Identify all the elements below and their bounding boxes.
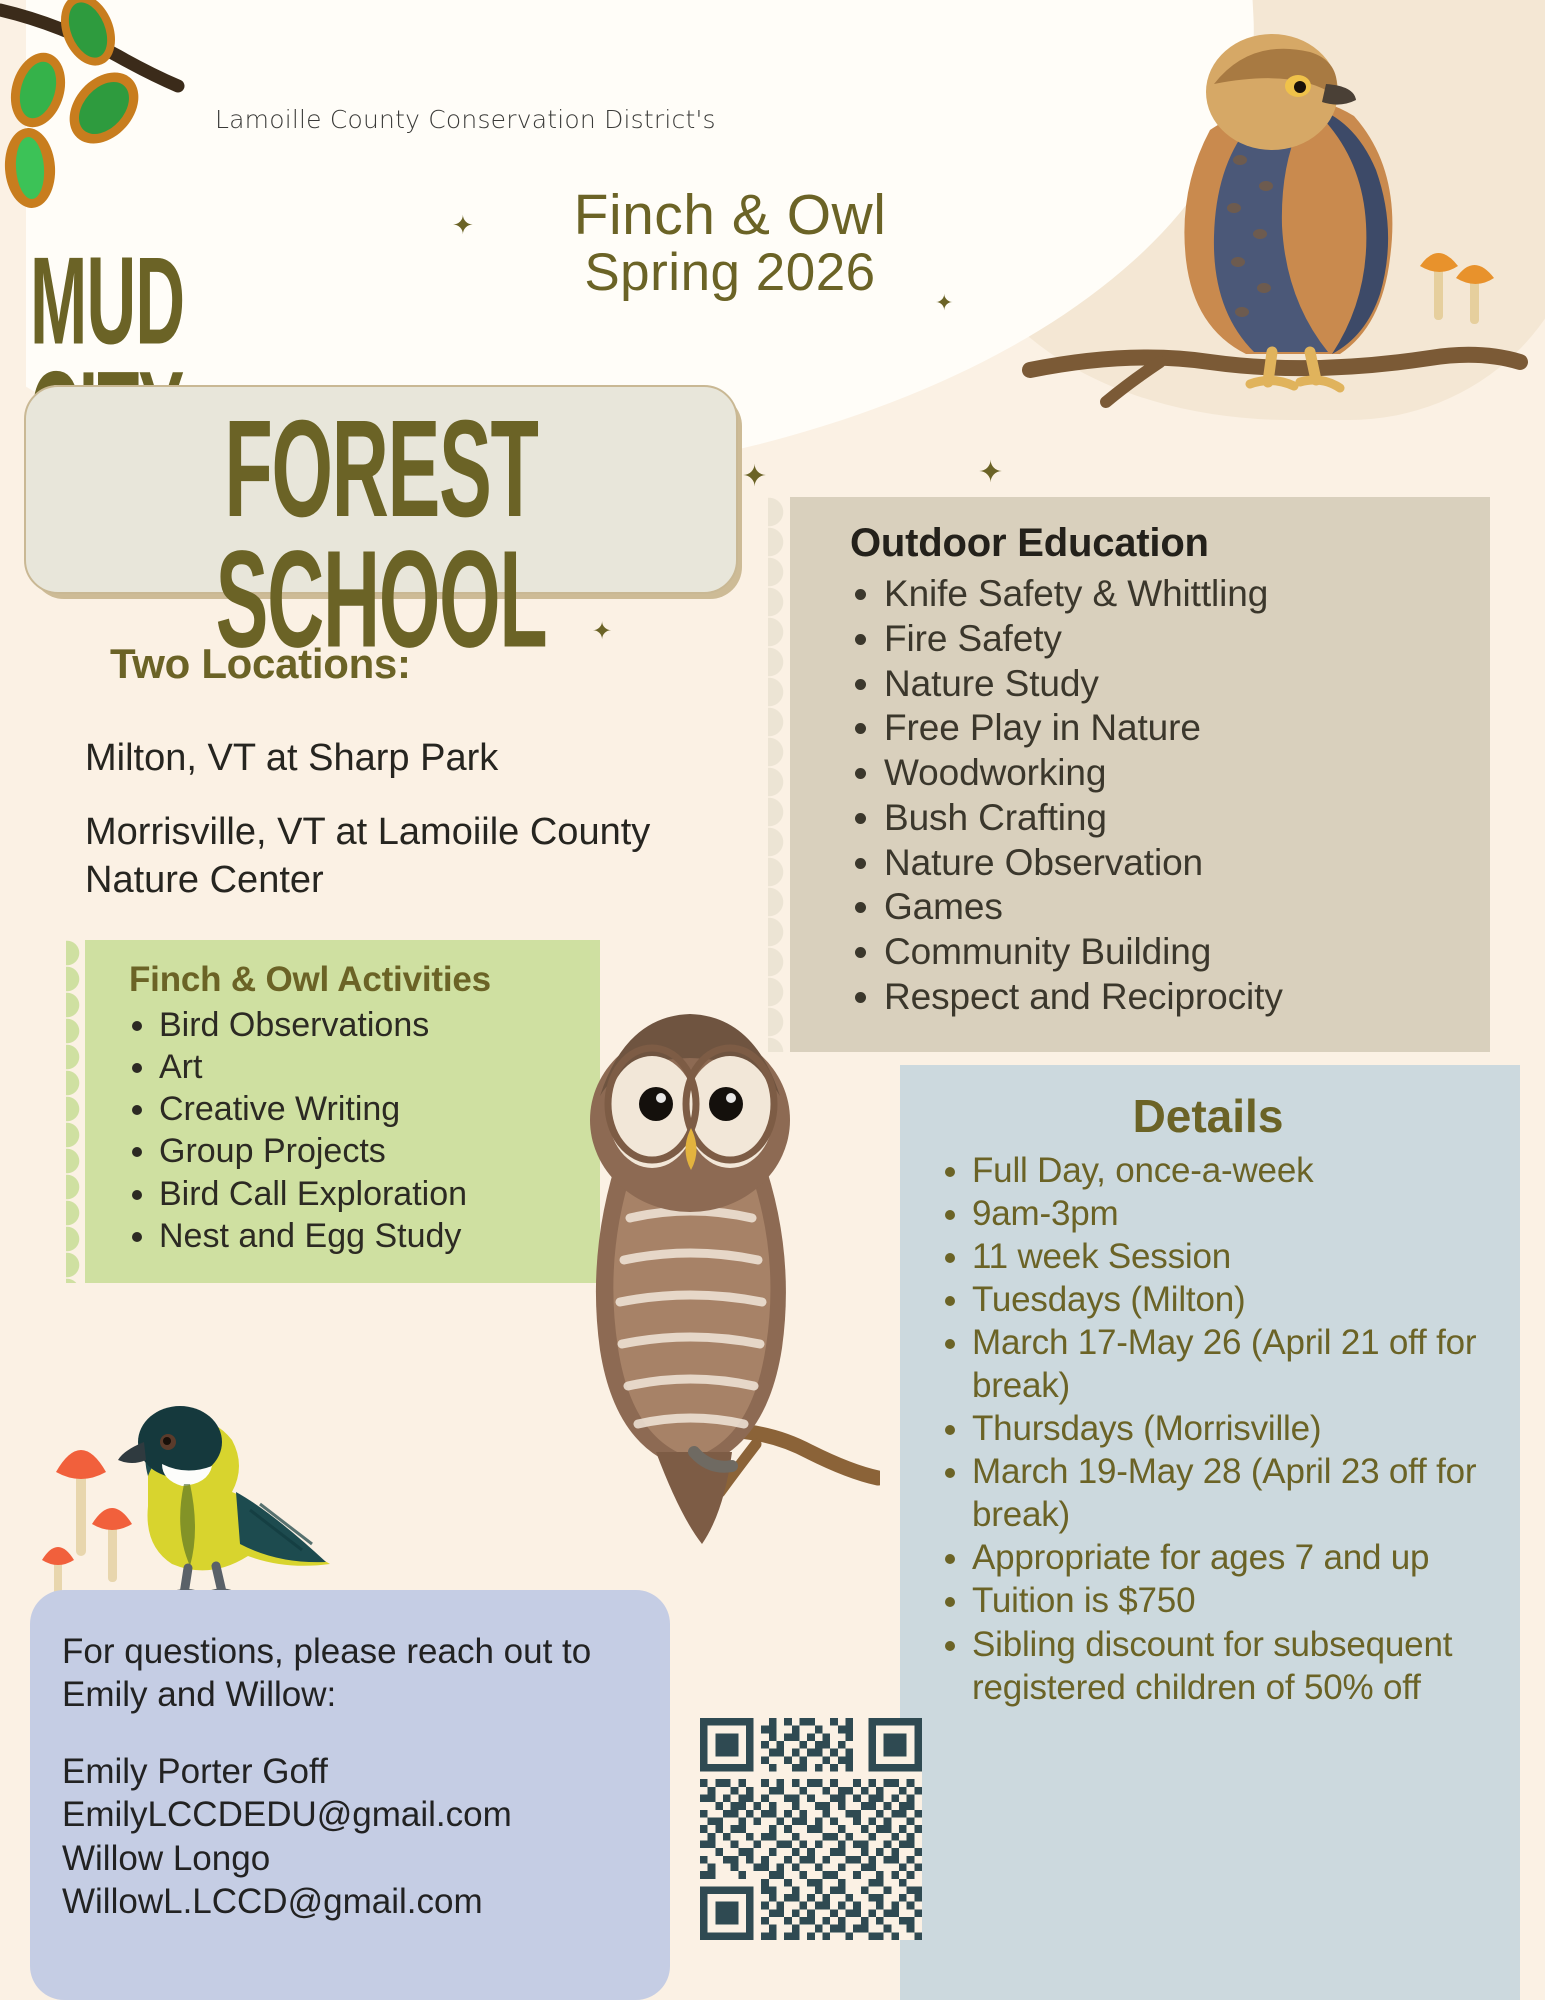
- scallop-edge: [66, 940, 86, 1283]
- list-item: Appropriate for ages 7 and up: [972, 1536, 1502, 1579]
- organization-kicker: Lamoille County Conservation District's: [215, 105, 716, 134]
- list-item: Community Building: [884, 930, 1480, 975]
- list-item: Bird Call Exploration: [159, 1173, 590, 1215]
- contact-email-emily[interactable]: EmilyLCCDEDU@gmail.com: [62, 1793, 640, 1836]
- list-item: Knife Safety & Whittling: [884, 572, 1480, 617]
- activities-list: Bird Observations Art Creative Writing G…: [107, 1004, 590, 1257]
- list-item: Respect and Reciprocity: [884, 975, 1480, 1020]
- outdoor-education-heading: Outdoor Education: [850, 521, 1480, 566]
- list-item: 9am-3pm: [972, 1192, 1502, 1235]
- location-item: Morrisville, VT at Lamoiile County Natur…: [85, 809, 725, 905]
- list-item: Thursdays (Morrisville): [972, 1407, 1502, 1450]
- program-term: Spring 2026: [495, 245, 965, 301]
- list-item: Group Projects: [159, 1130, 590, 1172]
- contact-panel: For questions, please reach out to Emily…: [30, 1590, 670, 2000]
- locations-heading: Two Locations:: [110, 640, 411, 688]
- locations-list: Milton, VT at Sharp Park Morrisville, VT…: [85, 735, 725, 931]
- brand-forest-school-box: FOREST SCHOOL: [24, 385, 738, 594]
- flyer-canvas: ✦ ✦ ✦ ✦ ✦ Lamoille County Conservation D…: [0, 0, 1545, 2000]
- list-item: Woodworking: [884, 751, 1480, 796]
- brand-forest-school: FOREST SCHOOL: [76, 405, 687, 667]
- list-item: Bird Observations: [159, 1004, 590, 1046]
- location-item: Milton, VT at Sharp Park: [85, 735, 725, 783]
- list-item: Full Day, once-a-week: [972, 1149, 1502, 1192]
- contact-name-willow: Willow Longo: [62, 1837, 640, 1880]
- contact-intro: For questions, please reach out to Emily…: [62, 1630, 640, 1716]
- list-item: Art: [159, 1046, 590, 1088]
- list-item: March 19-May 28 (April 23 off for break): [972, 1450, 1502, 1536]
- details-panel: Details Full Day, once-a-week 9am-3pm 11…: [900, 1065, 1520, 2000]
- list-item: Sibling discount for subsequent register…: [972, 1623, 1502, 1709]
- list-item: Games: [884, 885, 1480, 930]
- activities-panel: Finch & Owl Activities Bird Observations…: [85, 940, 600, 1283]
- contact-name-emily: Emily Porter Goff: [62, 1750, 640, 1793]
- contact-email-willow[interactable]: WillowL.LCCD@gmail.com: [62, 1880, 640, 1923]
- mushroom-illustration: [1418, 218, 1504, 330]
- outdoor-education-panel: Outdoor Education Knife Safety & Whittli…: [790, 497, 1490, 1052]
- list-item: Creative Writing: [159, 1088, 590, 1130]
- list-item: 11 week Session: [972, 1235, 1502, 1278]
- list-item: Free Play in Nature: [884, 706, 1480, 751]
- list-item: Nature Study: [884, 662, 1480, 707]
- qr-code[interactable]: [700, 1718, 922, 1940]
- outdoor-education-list: Knife Safety & Whittling Fire Safety Nat…: [818, 572, 1480, 1020]
- details-heading: Details: [914, 1089, 1502, 1143]
- list-item: March 17-May 26 (April 21 off for break): [972, 1321, 1502, 1407]
- list-item: Nest and Egg Study: [159, 1215, 590, 1257]
- list-item: Tuition is $750: [972, 1579, 1502, 1622]
- sparkle-icon: ✦: [452, 212, 474, 238]
- sparkle-icon: ✦: [978, 458, 1003, 488]
- details-list: Full Day, once-a-week 9am-3pm 11 week Se…: [914, 1149, 1502, 1709]
- leafy-branch-illustration: [0, 0, 250, 210]
- list-item: Nature Observation: [884, 841, 1480, 886]
- season-title: Finch & Owl Spring 2026: [495, 185, 965, 302]
- great-tit-bird-illustration: [40, 1380, 340, 1620]
- sparkle-icon: ✦: [742, 462, 767, 492]
- activities-heading: Finch & Owl Activities: [129, 960, 590, 1000]
- mushroom-illustration: [42, 1450, 132, 1596]
- hawk-illustration: [1010, 10, 1530, 410]
- list-item: Fire Safety: [884, 617, 1480, 662]
- program-name: Finch & Owl: [495, 185, 965, 245]
- scallop-edge: [768, 497, 791, 1052]
- list-item: Tuesdays (Milton): [972, 1278, 1502, 1321]
- list-item: Bush Crafting: [884, 796, 1480, 841]
- barred-owl-illustration: [560, 1000, 880, 1560]
